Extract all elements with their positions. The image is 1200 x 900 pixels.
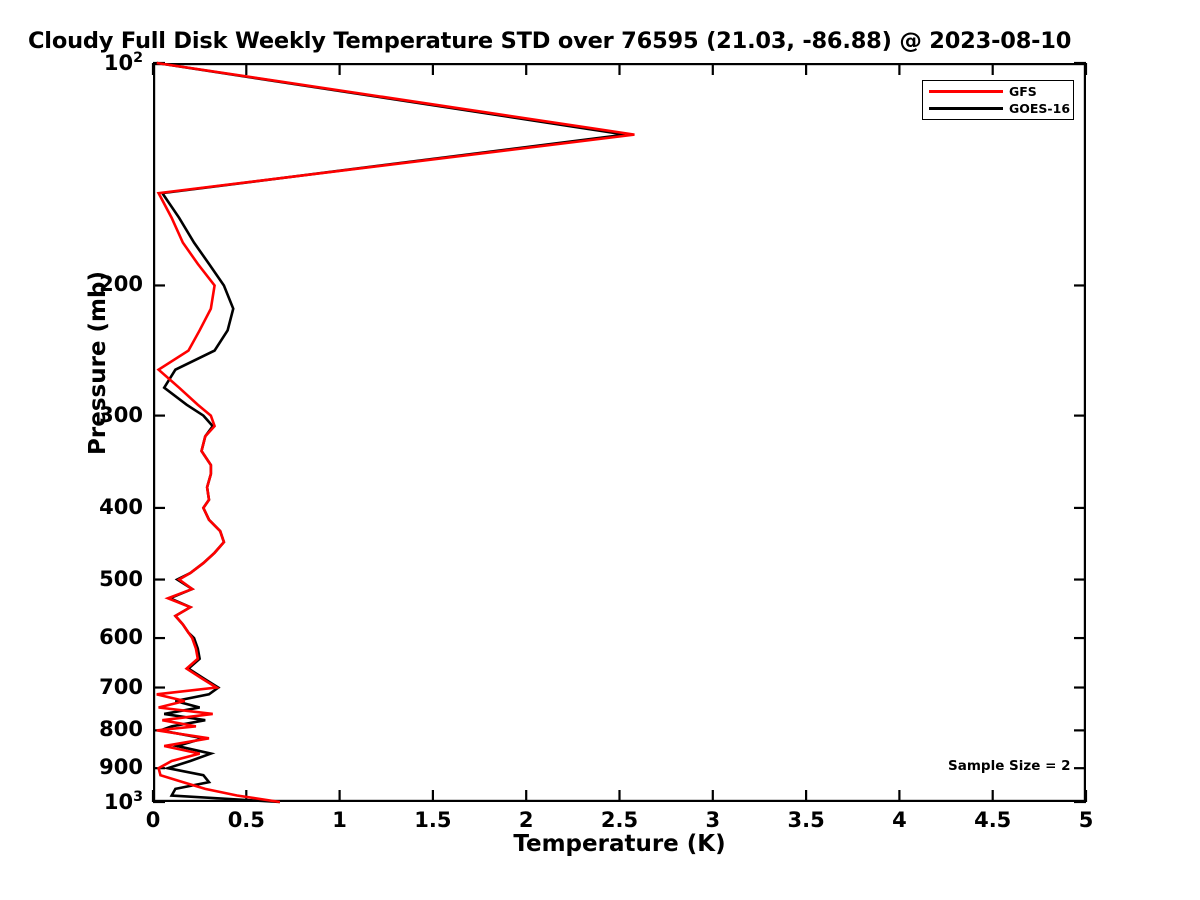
- plot-svg: [153, 63, 1086, 802]
- y-tick-label: 300: [23, 403, 143, 427]
- x-tick-label: 0: [113, 808, 193, 832]
- y-tick-label: 900: [23, 755, 143, 779]
- x-tick-label: 0.5: [206, 808, 286, 832]
- y-tick-label: 800: [23, 717, 143, 741]
- y-tick-label: 600: [23, 625, 143, 649]
- legend-item-gfs: GFS: [929, 84, 1071, 100]
- legend-label: GOES-16: [1009, 101, 1070, 116]
- y-tick-label: 700: [23, 675, 143, 699]
- y-axis-title: Pressure (mb): [85, 271, 111, 455]
- legend-line-swatch: [929, 107, 1003, 110]
- legend-item-goes16: GOES-16: [929, 101, 1071, 117]
- x-tick-label: 4: [859, 808, 939, 832]
- y-tick-label: 500: [23, 567, 143, 591]
- series-line-goes-16: [157, 63, 625, 802]
- tick-marks-group: [153, 63, 1086, 802]
- legend-line-swatch: [929, 90, 1003, 93]
- x-tick-label: 4.5: [953, 808, 1033, 832]
- x-tick-label: 2: [486, 808, 566, 832]
- plot-area: 102200300400500600700800900103 00.511.52…: [153, 63, 1086, 802]
- x-tick-label: 1: [300, 808, 380, 832]
- y-tick-label: 200: [23, 272, 143, 296]
- legend: GFS GOES-16: [922, 80, 1074, 120]
- page-title: Cloudy Full Disk Weekly Temperature STD …: [28, 28, 1200, 54]
- x-tick-label: 5: [1046, 808, 1126, 832]
- series-group: [157, 63, 635, 802]
- x-tick-label: 3: [673, 808, 753, 832]
- axis-frame: [154, 64, 1085, 801]
- x-tick-label: 2.5: [580, 808, 660, 832]
- legend-label: GFS: [1009, 84, 1037, 99]
- x-tick-label: 3.5: [766, 808, 846, 832]
- x-tick-label: 1.5: [393, 808, 473, 832]
- series-line-gfs: [157, 63, 635, 802]
- chart-figure: Cloudy Full Disk Weekly Temperature STD …: [0, 0, 1200, 900]
- y-tick-label: 102: [23, 50, 143, 75]
- x-axis-title: Temperature (K): [153, 831, 1086, 857]
- sample-size-annotation: Sample Size = 2: [948, 758, 1071, 774]
- y-tick-label: 400: [23, 495, 143, 519]
